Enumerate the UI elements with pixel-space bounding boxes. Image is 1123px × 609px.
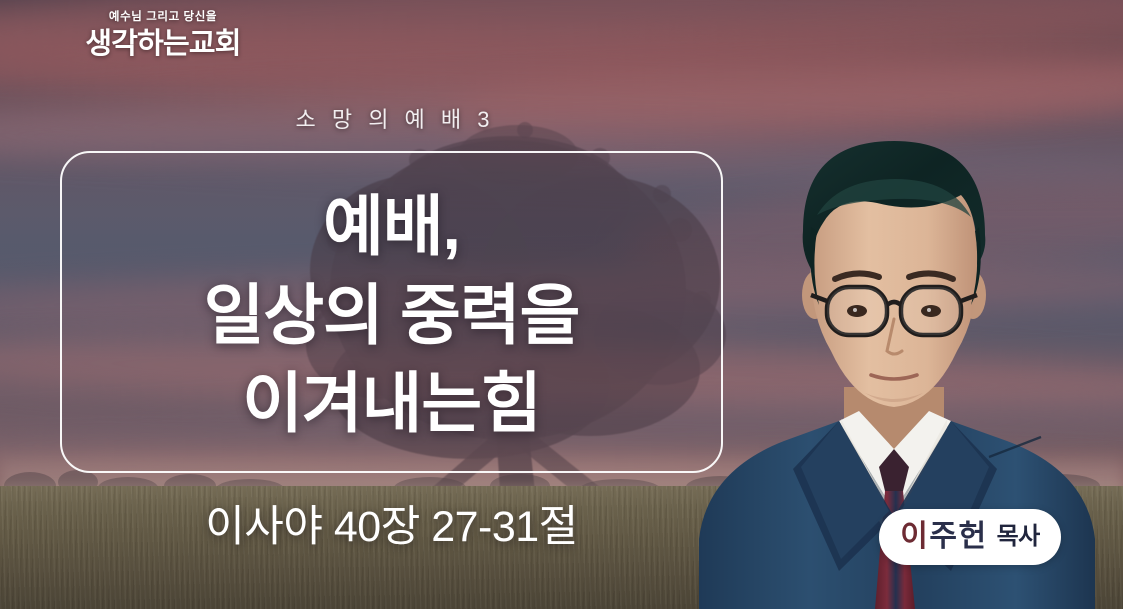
church-logo: 예수님 그리고 당신을 생각하는교회: [58, 12, 268, 59]
speaker-name-badge: 이주헌 목사: [879, 509, 1061, 565]
speaker-name: 이주헌: [900, 522, 987, 552]
sermon-title-line-3: 이겨내는힘: [242, 359, 541, 447]
sermon-title-line-1: 예배,: [323, 182, 460, 270]
sermon-title-card: 예수님 그리고 당신을 생각하는교회 소 망 의 예 배 3 예배, 일상의 중…: [0, 0, 1123, 609]
logo-name: 생각하는교회: [58, 29, 268, 59]
logo-tagline: 예수님 그리고 당신을: [58, 12, 268, 24]
sermon-title: 예배, 일상의 중력을 이겨내는힘: [60, 160, 723, 470]
scripture-reference: 이사야 40장 27-31절: [60, 492, 723, 554]
sermon-title-line-2: 일상의 중력을: [204, 271, 580, 359]
series-label: 소 망 의 예 배 3: [0, 102, 790, 134]
speaker-role: 목사: [997, 525, 1040, 549]
